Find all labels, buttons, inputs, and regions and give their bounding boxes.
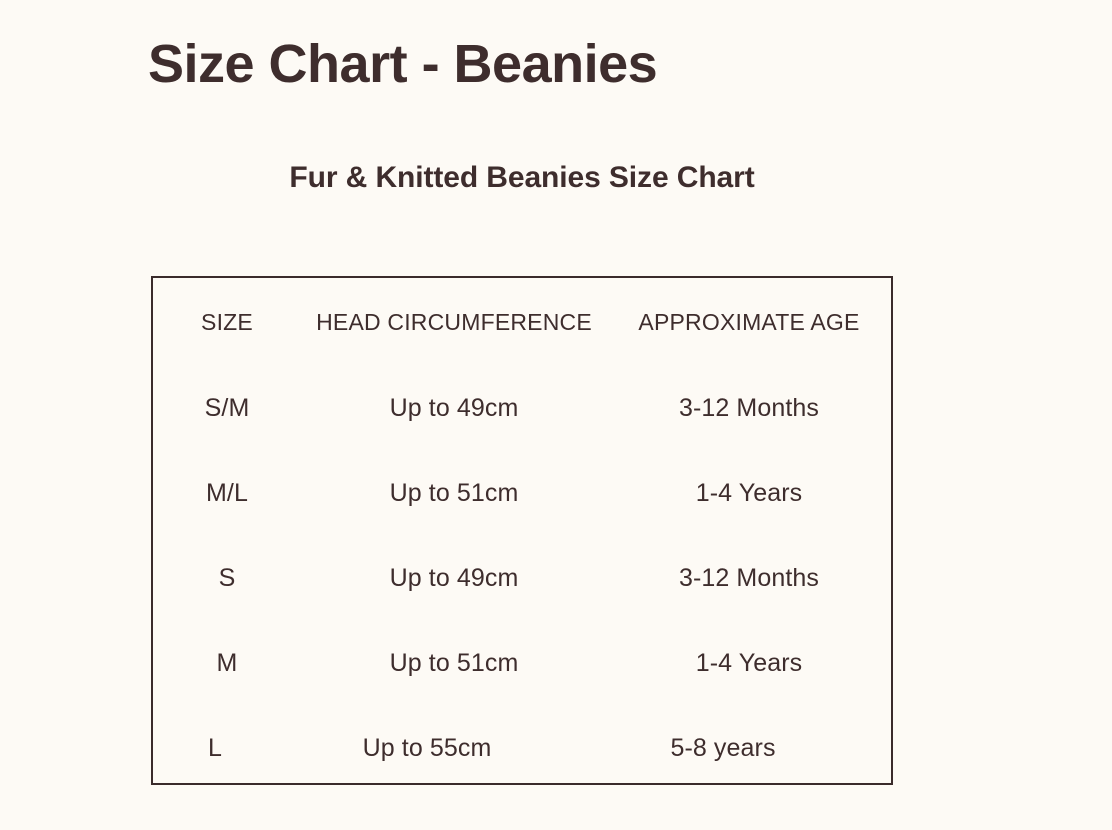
cell-approximate-age: 3-12 Months bbox=[607, 536, 891, 621]
cell-head-circumference: Up to 49cm bbox=[301, 536, 607, 621]
table-header: SIZE HEAD CIRCUMFERENCE APPROXIMATE AGE bbox=[153, 278, 891, 366]
table-row: S Up to 49cm 3-12 Months bbox=[153, 536, 891, 621]
table-row: M/L Up to 51cm 1-4 Years bbox=[153, 451, 891, 536]
cell-approximate-age: 3-12 Months bbox=[607, 366, 891, 451]
table-row: S/M Up to 49cm 3-12 Months bbox=[153, 366, 891, 451]
cell-head-circumference: Up to 55cm bbox=[301, 706, 607, 791]
cell-head-circumference: Up to 51cm bbox=[301, 451, 607, 536]
cell-head-circumference: Up to 49cm bbox=[301, 366, 607, 451]
cell-approximate-age: 1-4 Years bbox=[607, 451, 891, 536]
cell-approximate-age: 5-8 years bbox=[607, 706, 891, 791]
cell-head-circumference: Up to 51cm bbox=[301, 621, 607, 706]
cell-size: S bbox=[153, 536, 301, 621]
cell-size: M bbox=[153, 621, 301, 706]
size-chart-table: SIZE HEAD CIRCUMFERENCE APPROXIMATE AGE … bbox=[153, 278, 891, 791]
size-chart-table-container: SIZE HEAD CIRCUMFERENCE APPROXIMATE AGE … bbox=[151, 276, 893, 785]
column-header-head-circumference: HEAD CIRCUMFERENCE bbox=[301, 278, 607, 366]
chart-subtitle: Fur & Knitted Beanies Size Chart bbox=[151, 161, 893, 194]
column-header-size: SIZE bbox=[153, 278, 301, 366]
size-chart-page: Size Chart - Beanies Fur & Knitted Beani… bbox=[0, 0, 1112, 830]
table-row: L Up to 55cm 5-8 years bbox=[153, 706, 891, 791]
table-body: S/M Up to 49cm 3-12 Months M/L Up to 51c… bbox=[153, 366, 891, 791]
cell-size: S/M bbox=[153, 366, 301, 451]
column-header-approximate-age: APPROXIMATE AGE bbox=[607, 278, 891, 366]
cell-size: L bbox=[153, 706, 301, 791]
table-row: M Up to 51cm 1-4 Years bbox=[153, 621, 891, 706]
table-header-row: SIZE HEAD CIRCUMFERENCE APPROXIMATE AGE bbox=[153, 278, 891, 366]
cell-size: M/L bbox=[153, 451, 301, 536]
cell-approximate-age: 1-4 Years bbox=[607, 621, 891, 706]
page-title: Size Chart - Beanies bbox=[148, 36, 968, 93]
